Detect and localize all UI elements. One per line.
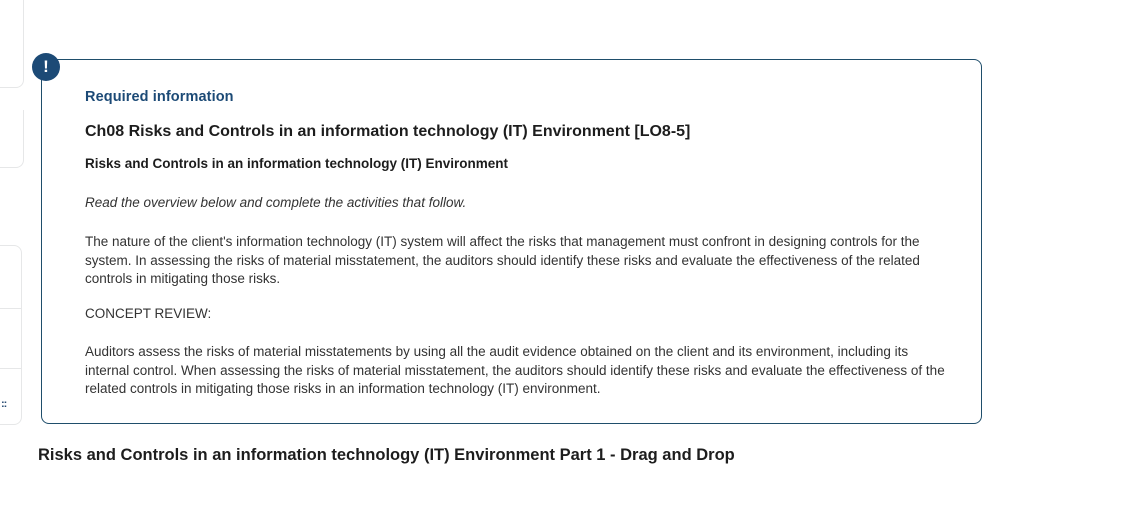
instruction-text: Read the overview below and complete the… xyxy=(85,193,953,213)
required-information-label: Required information xyxy=(85,87,953,107)
page-subtitle: Risks and Controls in an information tec… xyxy=(85,154,953,174)
required-information-content: Required information Ch08 Risks and Cont… xyxy=(85,87,953,399)
left-edge-row-divider xyxy=(0,308,22,309)
overview-paragraph-1: The nature of the client's information t… xyxy=(85,233,953,289)
required-information-card: Required information Ch08 Risks and Cont… xyxy=(41,59,982,424)
overview-paragraph-2: Auditors assess the risks of material mi… xyxy=(85,343,953,399)
left-edge-panel-top xyxy=(0,0,24,88)
left-edge-panel-middle xyxy=(0,110,24,168)
section-heading: Risks and Controls in an information tec… xyxy=(38,443,735,467)
left-edge-glyph-fragment: :: xyxy=(1,396,11,412)
concept-review-label: CONCEPT REVIEW: xyxy=(85,305,953,324)
exclamation-icon: ! xyxy=(32,53,60,81)
left-edge-row-divider xyxy=(0,368,22,369)
page-title: Ch08 Risks and Controls in an informatio… xyxy=(85,121,953,143)
